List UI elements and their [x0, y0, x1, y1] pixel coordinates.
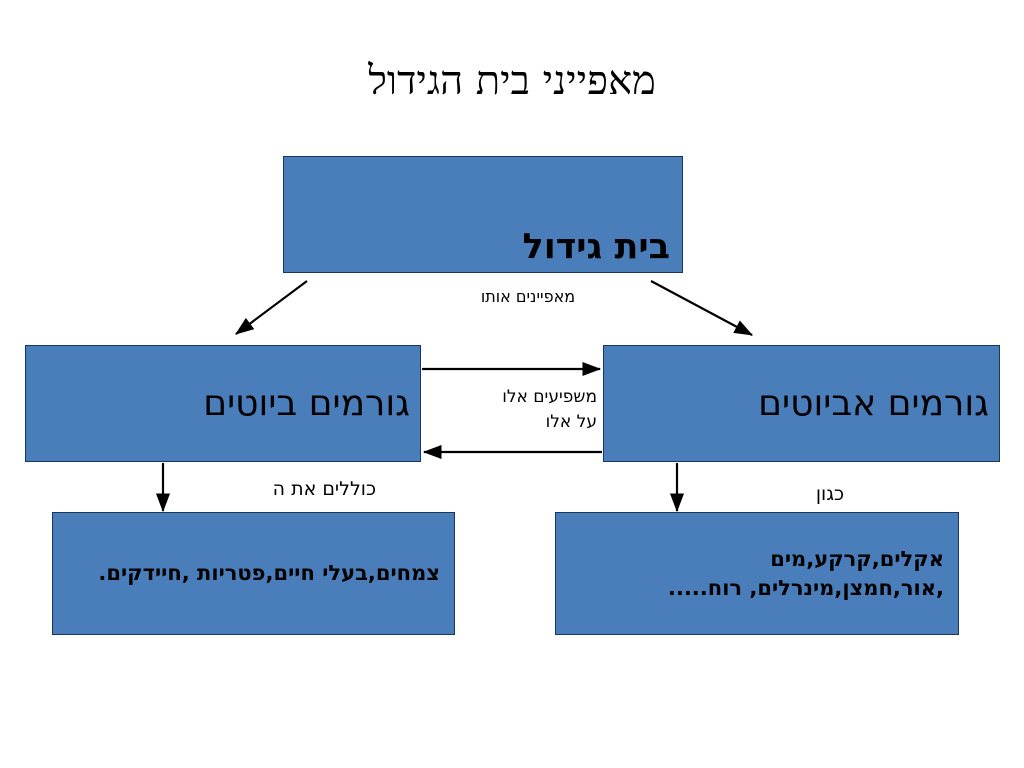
habitat-box-label: בית גידול [296, 228, 670, 267]
habitat-box[interactable]: בית גידול [283, 156, 683, 273]
connector-label-characterize: מאפיינים אותו [428, 287, 628, 307]
connector-label-includes: כוללים את ה [196, 478, 376, 501]
abiotic-factors-box[interactable]: גורמים אביוטים [603, 345, 1000, 462]
biotic-examples-box-label: צמחים,בעלי חיים,פטריות ,חיידקים. [67, 559, 440, 587]
connector-label-affect-each-other: משפיעים אלו על אלו [425, 385, 597, 434]
page-title: מאפייני בית הגידול [0, 58, 1024, 104]
abiotic-examples-box[interactable]: אקלים,קרקע,מים ,אור,חמצן,מינרלים, רוח...… [555, 512, 959, 635]
arrow-habitat-to-abiotic [651, 281, 752, 335]
biotic-examples-box[interactable]: צמחים,בעלי חיים,פטריות ,חיידקים. [52, 512, 455, 635]
slide-canvas: מאפייני בית הגידול בית גידול גורמים ביוט… [0, 0, 1024, 768]
connector-label-such-as: כגון [760, 483, 900, 506]
biotic-factors-box-label: גורמים ביוטים [36, 384, 410, 424]
arrow-habitat-to-biotic [236, 281, 307, 334]
biotic-factors-box[interactable]: גורמים ביוטים [25, 345, 421, 462]
abiotic-factors-box-label: גורמים אביוטים [614, 384, 989, 424]
abiotic-examples-box-label: אקלים,קרקע,מים ,אור,חמצן,מינרלים, רוח...… [570, 545, 944, 602]
